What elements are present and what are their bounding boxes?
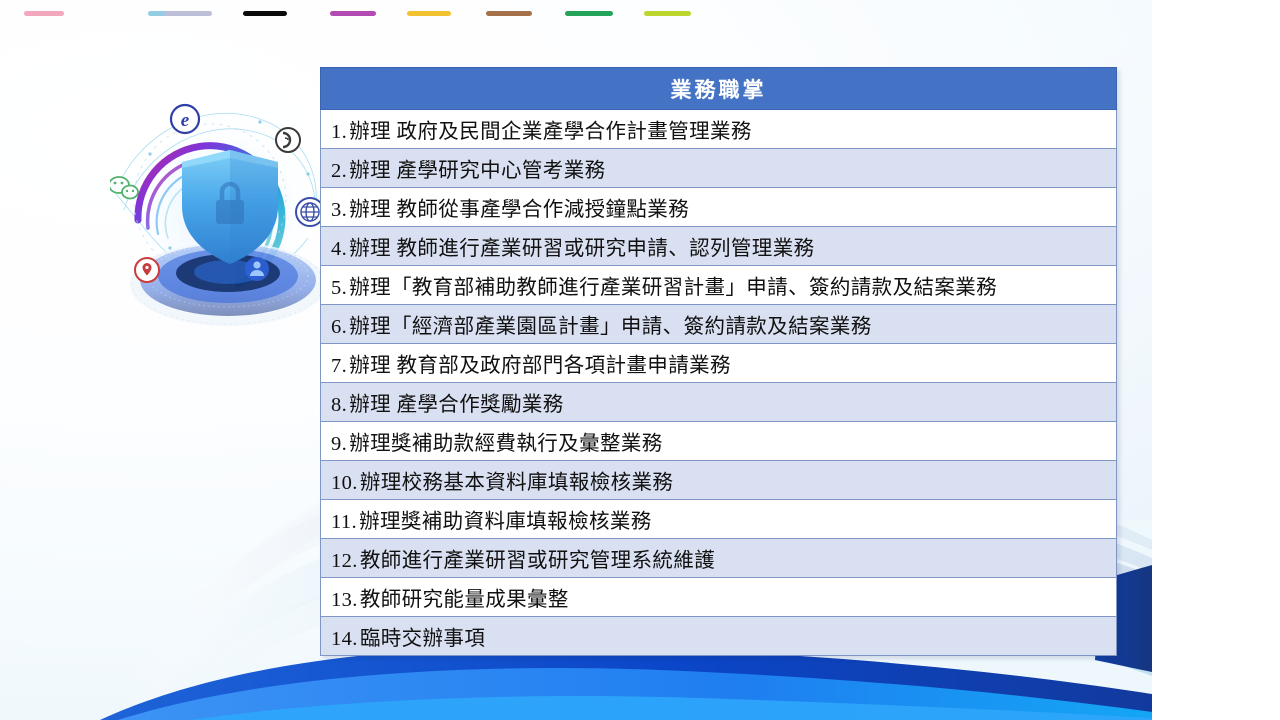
table-row: 11.辦理獎補助資料庫填報檢核業務 [321,500,1117,539]
top-color-bars [0,0,1152,30]
table-row: 14.臨時交辦事項 [321,617,1117,656]
row-text: 辦理「教育部補助教師進行產業研習計畫」申請、簽約請款及結案業務 [349,277,997,299]
row-text: 辦理 產學研究中心管考業務 [349,160,605,182]
duty-table: 業務職掌 1.辦理 政府及民間企業產學合作計畫管理業務 2.辦理 產學研究中心管… [320,67,1117,656]
row-number: 11. [331,511,357,533]
row-text: 臨時交辦事項 [360,628,485,650]
duty-item-4: 4.辦理 教師進行產業研習或研究申請、認列管理業務 [321,227,1117,266]
row-text: 辦理獎補助款經費執行及彙整業務 [349,433,663,455]
duty-item-2: 2.辦理 產學研究中心管考業務 [321,149,1117,188]
duty-item-10: 10.辦理校務基本資料庫填報檢核業務 [321,461,1117,500]
e-browser-icon: e [171,105,199,133]
row-number: 4. [331,238,347,260]
color-bar-brown [486,11,532,16]
color-bar-black [243,11,287,16]
row-text: 辦理 產學合作獎勵業務 [349,394,564,416]
color-bar-green [565,11,613,16]
row-number: 2. [331,160,347,182]
slide-canvas: e [0,0,1280,720]
table-row: 4.辦理 教師進行產業研習或研究申請、認列管理業務 [321,227,1117,266]
row-number: 5. [331,277,347,299]
duty-item-8: 8.辦理 產學合作獎勵業務 [321,383,1117,422]
color-bar-pale-purple [164,11,212,16]
row-number: 7. [331,355,347,377]
person-icon [245,257,269,281]
row-number: 3. [331,199,347,221]
row-text: 辦理 教師進行產業研習或研究申請、認列管理業務 [349,238,814,260]
duty-item-11: 11.辦理獎補助資料庫填報檢核業務 [321,500,1117,539]
row-text: 教師研究能量成果彙整 [360,589,569,611]
table-row: 10.辦理校務基本資料庫填報檢核業務 [321,461,1117,500]
table-row: 8.辦理 產學合作獎勵業務 [321,383,1117,422]
phone-icon [276,128,300,152]
row-number: 6. [331,316,347,338]
table-row: 12.教師進行產業研習或研究管理系統維護 [321,539,1117,578]
table-header-row: 業務職掌 [321,68,1117,110]
table-row: 7.辦理 教育部及政府部門各項計畫申請業務 [321,344,1117,383]
duty-item-6: 6.辦理「經濟部產業園區計畫」申請、簽約請款及結案業務 [321,305,1117,344]
row-number: 14. [331,628,358,650]
row-text: 辦理 教育部及政府部門各項計畫申請業務 [349,355,731,377]
duty-item-12: 12.教師進行產業研習或研究管理系統維護 [321,539,1117,578]
duty-item-5: 5.辦理「教育部補助教師進行產業研習計畫」申請、簽約請款及結案業務 [321,266,1117,305]
row-text: 辦理「經濟部產業園區計畫」申請、簽約請款及結案業務 [349,316,872,338]
table-row: 3.辦理 教師從事產學合作減授鐘點業務 [321,188,1117,227]
row-number: 8. [331,394,347,416]
duty-item-1: 1.辦理 政府及民間企業產學合作計畫管理業務 [321,110,1117,149]
table-row: 6.辦理「經濟部產業園區計畫」申請、簽約請款及結案業務 [321,305,1117,344]
table-row: 2.辦理 產學研究中心管考業務 [321,149,1117,188]
row-text: 辦理 政府及民間企業產學合作計畫管理業務 [349,121,752,143]
row-number: 12. [331,550,358,572]
location-pin-icon [135,258,159,282]
security-shield-network-graphic: e [110,88,335,343]
table-row: 9.辦理獎補助款經費執行及彙整業務 [321,422,1117,461]
color-bar-pink [24,11,64,16]
duty-item-9: 9.辦理獎補助款經費執行及彙整業務 [321,422,1117,461]
duty-item-3: 3.辦理 教師從事產學合作減授鐘點業務 [321,188,1117,227]
table-body: 1.辦理 政府及民間企業產學合作計畫管理業務 2.辦理 產學研究中心管考業務 3… [321,110,1117,656]
row-number: 13. [331,589,358,611]
color-bar-yellow-green [644,11,691,16]
duty-item-7: 7.辦理 教育部及政府部門各項計畫申請業務 [321,344,1117,383]
row-text: 教師進行產業研習或研究管理系統維護 [360,550,715,572]
table-row: 1.辦理 政府及民間企業產學合作計畫管理業務 [321,110,1117,149]
color-bar-yellow [407,11,451,16]
row-number: 9. [331,433,347,455]
table-row: 13.教師研究能量成果彙整 [321,578,1117,617]
table-row: 5.辦理「教育部補助教師進行產業研習計畫」申請、簽約請款及結案業務 [321,266,1117,305]
row-text: 辦理 教師從事產學合作減授鐘點業務 [349,199,689,221]
table-title-cell: 業務職掌 [321,68,1117,110]
svg-text:e: e [181,110,190,131]
color-bar-purple [330,11,376,16]
row-text: 辦理校務基本資料庫填報檢核業務 [360,472,674,494]
duty-item-13: 13.教師研究能量成果彙整 [321,578,1117,617]
duty-item-14: 14.臨時交辦事項 [321,617,1117,656]
row-number: 1. [331,121,347,143]
row-text: 辦理獎補助資料庫填報檢核業務 [359,511,652,533]
row-number: 10. [331,472,358,494]
